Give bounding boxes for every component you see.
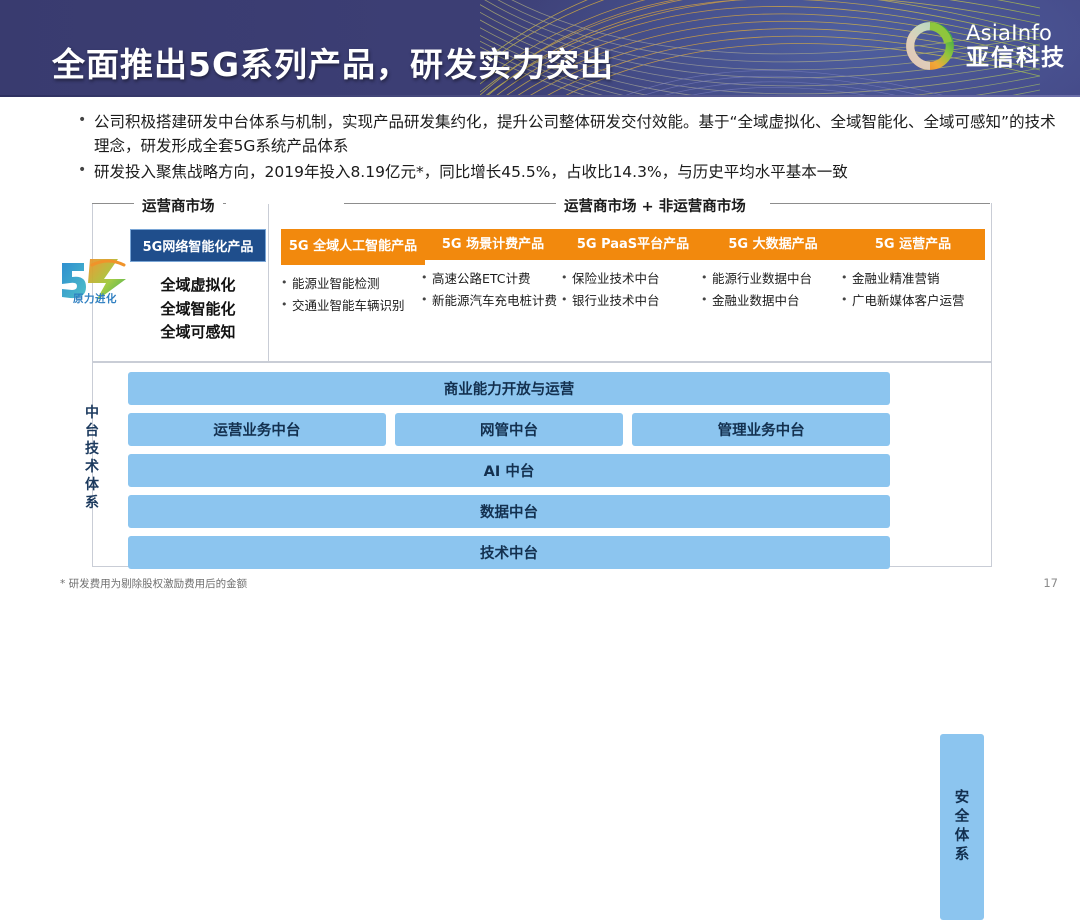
panel-top-rule-mid (344, 203, 557, 204)
item-marker: • (281, 274, 292, 293)
product-column-bigdata[interactable]: 5G 大数据产品 •能源行业数据中台 •金融业数据中台 (701, 229, 845, 314)
item-text: 保险业技术中台 (572, 269, 705, 288)
platform-bar-ai[interactable]: AI 中台 (128, 454, 890, 487)
page-number: 17 (1043, 576, 1058, 590)
bullet-text: 研发投入聚焦战略方向，2019年投入8.19亿元*，同比增长45.5%，占收比1… (94, 160, 1068, 184)
item-text: 高速公路ETC计费 (432, 269, 565, 288)
5g-badge-subtitle: 原力进化 (56, 291, 134, 306)
item-text: 能源行业数据中台 (712, 269, 845, 288)
product-item: •金融业精准营销 (841, 269, 985, 288)
product-column-capabilities: 全域虚拟化 全域智能化 全域可感知 (130, 274, 266, 345)
header-bottom-rule (0, 95, 1080, 97)
bullet-marker: • (78, 160, 94, 182)
bullet-marker: • (78, 110, 94, 132)
capability-line: 全域可感知 (130, 321, 266, 345)
page-title: 全面推出5G系列产品，研发实力突出 (52, 38, 614, 86)
product-item: •金融业数据中台 (701, 291, 845, 310)
bullet-text: 公司积极搭建研发中台体系与机制，实现产品研发集约化，提升公司整体研发交付效能。基… (94, 110, 1068, 158)
product-item: •能源业智能检测 (281, 274, 425, 293)
platform-bar-data[interactable]: 数据中台 (128, 495, 890, 528)
platform-bar-operations-business[interactable]: 运营业务中台 (128, 413, 386, 446)
item-text: 新能源汽车充电桩计费 (432, 291, 565, 310)
platform-bar-management-business[interactable]: 管理业务中台 (632, 413, 890, 446)
segment-label-operator-market: 运营商市场 (134, 195, 223, 216)
capability-line: 全域智能化 (130, 298, 266, 322)
product-item: •新能源汽车充电桩计费 (421, 291, 565, 310)
platform-row: 数据中台 (128, 495, 890, 528)
item-marker: • (701, 291, 712, 310)
product-item: •高速公路ETC计费 (421, 269, 565, 288)
product-item: •广电新媒体客户运营 (841, 291, 985, 310)
product-item: •交通业智能车辆识别 (281, 296, 425, 315)
platform-row: 技术中台 (128, 536, 890, 569)
product-item-list: •保险业技术中台 •银行业技术中台 (561, 269, 705, 311)
product-column-network-intelligence[interactable]: 5G网络智能化产品 全域虚拟化 全域智能化 全域可感知 (130, 229, 266, 345)
panel-top-rule-right (770, 203, 990, 204)
product-item-list: •金融业精准营销 •广电新媒体客户运营 (841, 269, 985, 311)
platform-row: 商业能力开放与运营 (128, 372, 890, 405)
product-item: •能源行业数据中台 (701, 269, 845, 288)
security-system-label: 安全体系 (955, 789, 970, 864)
asiainfo-logo: AsiaInfo 亚信科技 (903, 19, 1066, 73)
platform-bar-technology[interactable]: 技术中台 (128, 536, 890, 569)
platform-left-label: 中台技术体系 (77, 405, 107, 512)
item-marker: • (841, 291, 852, 310)
platform-row: AI 中台 (128, 454, 890, 487)
bullet-item: • 公司积极搭建研发中台体系与机制，实现产品研发集约化，提升公司整体研发交付效能… (78, 110, 1068, 158)
logo-text-en: AsiaInfo (966, 23, 1066, 44)
item-text: 能源业智能检测 (292, 274, 425, 293)
platform-bar-commercial-capability[interactable]: 商业能力开放与运营 (128, 372, 890, 405)
item-marker: • (421, 269, 432, 288)
footnote: * 研发费用为剔除股权激励费用后的金额 (60, 576, 247, 591)
logo-text-cn: 亚信科技 (966, 47, 1066, 70)
item-text: 金融业精准营销 (852, 269, 985, 288)
item-marker: • (701, 269, 712, 288)
segment-label-combined-market: 运营商市场 + 非运营商市场 (556, 195, 754, 216)
item-marker: • (421, 291, 432, 310)
header-line-2: 工智能产品 (352, 239, 417, 254)
item-marker: • (561, 269, 572, 288)
header-line-1: 5G 全域人 (289, 239, 352, 254)
item-text: 交通业智能车辆识别 (292, 296, 425, 315)
item-text: 广电新媒体客户运营 (852, 291, 985, 310)
asiainfo-ring-icon (903, 19, 957, 73)
security-system-bar[interactable]: 安全体系 (940, 734, 984, 920)
product-item: •银行业技术中台 (561, 291, 705, 310)
product-column-scenario-billing[interactable]: 5G 场景计费产品 •高速公路ETC计费 •新能源汽车充电桩计费 (421, 229, 565, 314)
product-column-paas[interactable]: 5G PaaS平台产品 •保险业技术中台 •银行业技术中台 (561, 229, 705, 314)
product-item-list: •能源行业数据中台 •金融业数据中台 (701, 269, 845, 311)
platform-panel: 商业能力开放与运营 运营业务中台 网管中台 管理业务中台 AI 中台 数据中台 … (92, 362, 992, 567)
item-text: 银行业技术中台 (572, 291, 705, 310)
panel-vertical-divider (268, 204, 269, 361)
product-item: •保险业技术中台 (561, 269, 705, 288)
platform-row: 运营业务中台 网管中台 管理业务中台 (128, 413, 890, 446)
product-item-list: •高速公路ETC计费 •新能源汽车充电桩计费 (421, 269, 565, 311)
product-column-operations[interactable]: 5G 运营产品 •金融业精准营销 •广电新媒体客户运营 (841, 229, 985, 314)
product-column-header[interactable]: 5G 运营产品 (841, 229, 985, 260)
platform-stack: 商业能力开放与运营 运营业务中台 网管中台 管理业务中台 AI 中台 数据中台 … (128, 372, 890, 577)
product-item-list: •能源业智能检测 •交通业智能车辆识别 (281, 274, 425, 316)
item-marker: • (841, 269, 852, 288)
product-column-header[interactable]: 5G 大数据产品 (701, 229, 845, 260)
platform-bar-network-management[interactable]: 网管中台 (395, 413, 624, 446)
product-column-header[interactable]: 5G网络智能化产品 (130, 229, 266, 262)
bullet-list: • 公司积极搭建研发中台体系与机制，实现产品研发集约化，提升公司整体研发交付效能… (78, 110, 1068, 186)
item-text: 金融业数据中台 (712, 291, 845, 310)
item-marker: • (561, 291, 572, 310)
slide-header: 全面推出5G系列产品，研发实力突出 AsiaInfo 亚信科技 (0, 0, 1080, 97)
capability-line: 全域虚拟化 (130, 274, 266, 298)
product-column-header[interactable]: 5G 全域人 工智能产品 (281, 229, 425, 265)
product-column-header[interactable]: 5G PaaS平台产品 (561, 229, 705, 260)
product-column-ai[interactable]: 5G 全域人 工智能产品 •能源业智能检测 •交通业智能车辆识别 (281, 229, 425, 319)
bullet-item: • 研发投入聚焦战略方向，2019年投入8.19亿元*，同比增长45.5%，占收… (78, 160, 1068, 184)
product-column-header[interactable]: 5G 场景计费产品 (421, 229, 565, 260)
item-marker: • (281, 296, 292, 315)
